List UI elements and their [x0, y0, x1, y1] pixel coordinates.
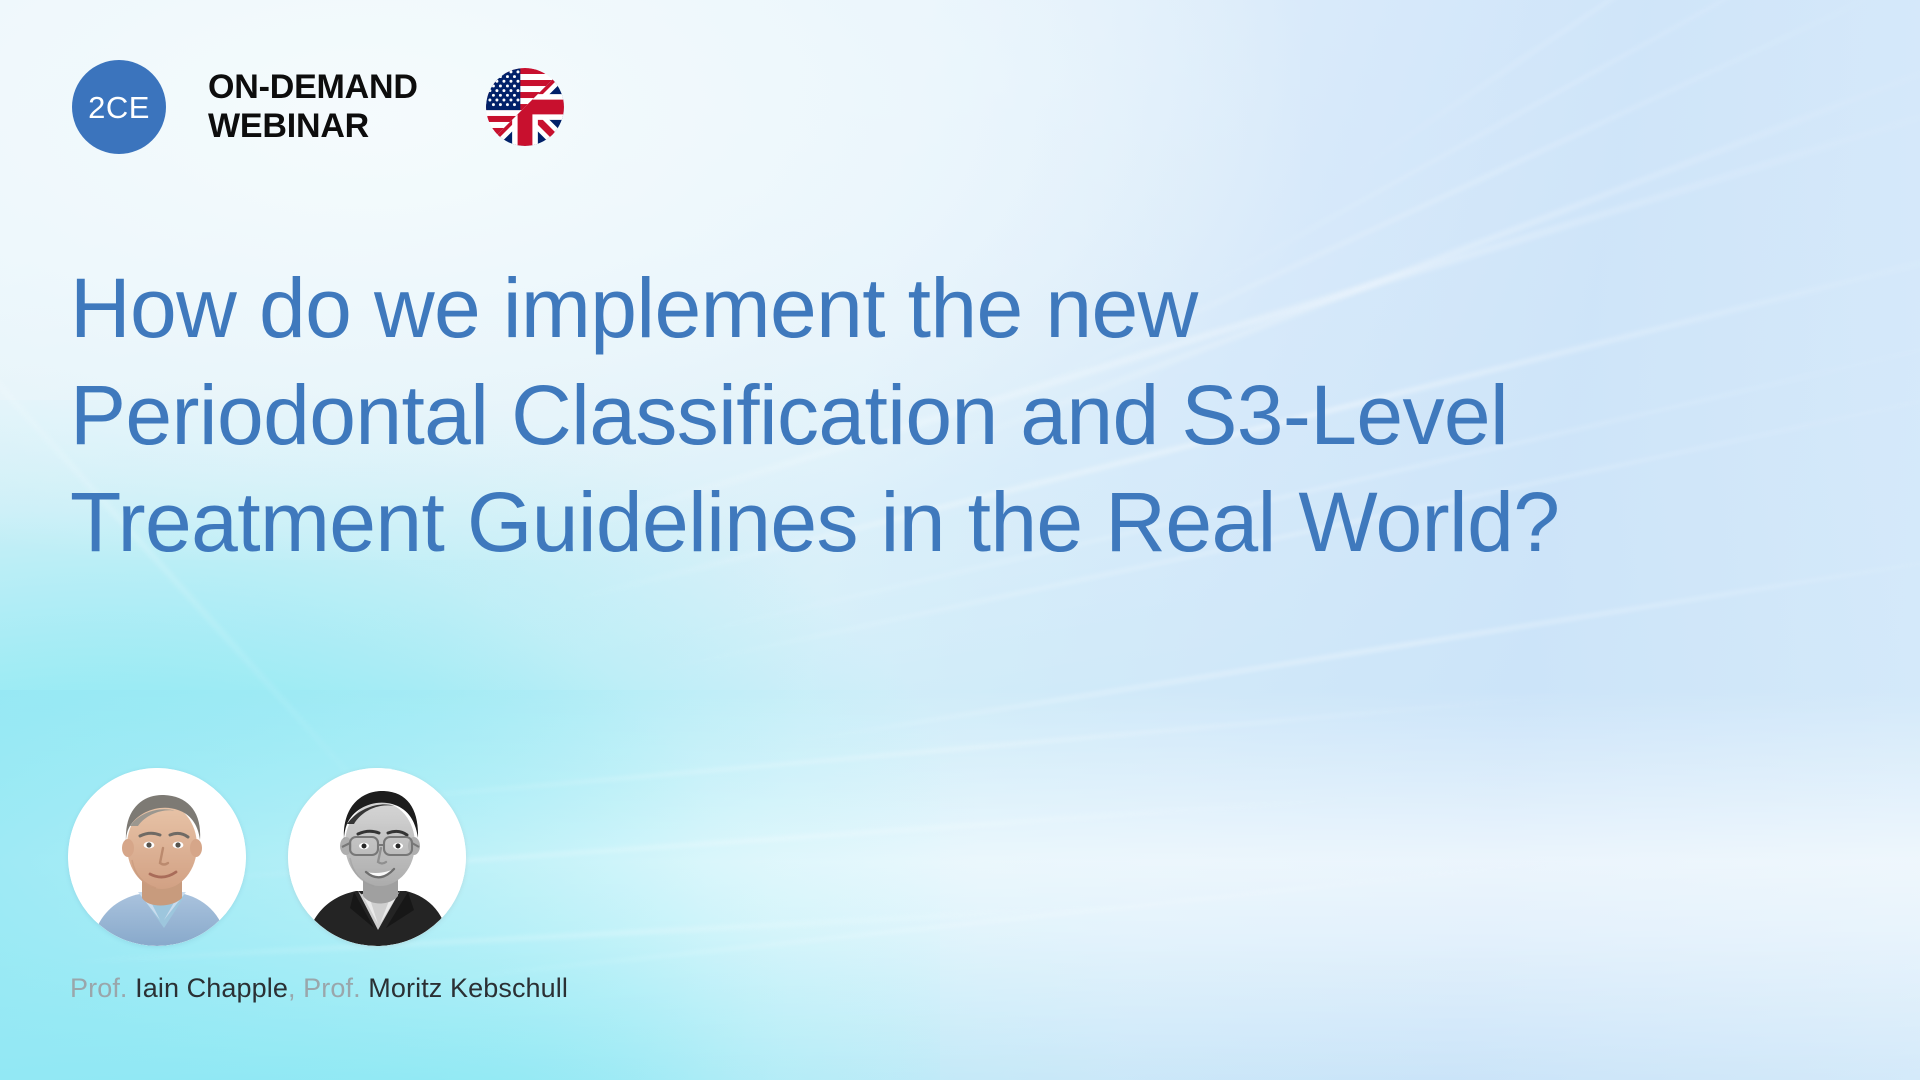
presenter-names: Prof. Iain Chapple, Prof. Moritz Kebschu…: [70, 972, 568, 1004]
webinar-kicker: ON-DEMAND WEBINAR: [208, 68, 418, 147]
presenter-2-prefix: Prof.: [303, 973, 361, 1003]
presenter-1-name: Iain Chapple: [135, 973, 288, 1003]
speaker-photo-iain-chapple: [68, 768, 246, 946]
webinar-title-slide: 2CE ON-DEMAND WEBINAR: [0, 0, 1920, 1080]
webinar-header: 2CE ON-DEMAND WEBINAR: [72, 60, 564, 154]
presenter-2-name: Moritz Kebschull: [368, 973, 568, 1003]
light-streak: [780, 548, 1920, 746]
speaker-photo-group: [68, 768, 466, 946]
page-title: How do we implement the new Periodontal …: [70, 255, 1860, 576]
ce-badge-group: 2CE ON-DEMAND WEBINAR: [72, 60, 418, 154]
us-uk-flag-icon: [486, 68, 564, 146]
light-streak: [420, 857, 1594, 983]
ce-credit-badge: 2CE: [72, 60, 166, 154]
presenter-1-prefix: Prof.: [70, 973, 128, 1003]
presenter-separator: ,: [288, 973, 303, 1003]
light-streak: [300, 692, 1595, 808]
ce-badge-label: 2CE: [88, 92, 150, 123]
light-streak: [1339, 0, 1920, 184]
speaker-photo-moritz-kebschull: [288, 768, 466, 946]
